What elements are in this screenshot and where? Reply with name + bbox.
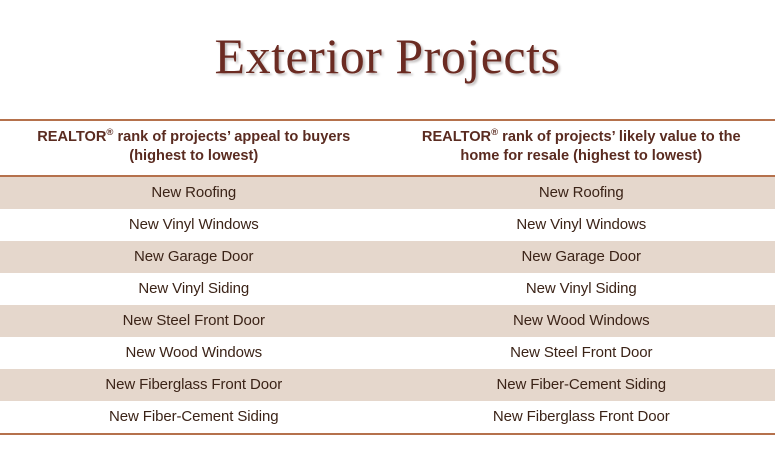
cell-appeal: New Roofing (0, 177, 388, 209)
cell-resale: New Vinyl Windows (388, 209, 775, 241)
title-area: Exterior Projects (0, 0, 775, 119)
table-row: New Fiberglass Front Door New Fiber-Ceme… (0, 369, 775, 401)
column-header-resale: REALTOR® rank of projects’ likely value … (388, 121, 775, 175)
cell-appeal: New Fiberglass Front Door (0, 369, 388, 401)
table-header-row: REALTOR® rank of projects’ appeal to buy… (0, 121, 775, 177)
table-row: New Garage Door New Garage Door (0, 241, 775, 273)
table-row: New Vinyl Windows New Vinyl Windows (0, 209, 775, 241)
cell-appeal: New Vinyl Windows (0, 209, 388, 241)
cell-appeal: New Vinyl Siding (0, 273, 388, 305)
cell-resale: New Fiber-Cement Siding (388, 369, 775, 401)
page: Exterior Projects REALTOR® rank of proje… (0, 0, 775, 457)
cell-appeal: New Fiber-Cement Siding (0, 401, 388, 433)
table-row: New Vinyl Siding New Vinyl Siding (0, 273, 775, 305)
column-header-resale-rest: rank of projects’ likely value to the ho… (460, 129, 740, 164)
table-row: New Steel Front Door New Wood Windows (0, 305, 775, 337)
cell-appeal: New Wood Windows (0, 337, 388, 369)
projects-table: REALTOR® rank of projects’ appeal to buy… (0, 119, 775, 435)
cell-resale: New Garage Door (388, 241, 775, 273)
column-header-resale-realtor: REALTOR (422, 129, 491, 145)
cell-appeal: New Garage Door (0, 241, 388, 273)
table-row: New Roofing New Roofing (0, 177, 775, 209)
cell-appeal: New Steel Front Door (0, 305, 388, 337)
cell-resale: New Fiberglass Front Door (388, 401, 775, 433)
cell-resale: New Wood Windows (388, 305, 775, 337)
column-header-appeal-realtor: REALTOR (37, 129, 106, 145)
table-row: New Fiber-Cement Siding New Fiberglass F… (0, 401, 775, 433)
cell-resale: New Steel Front Door (388, 337, 775, 369)
cell-resale: New Vinyl Siding (388, 273, 775, 305)
page-title: Exterior Projects (215, 31, 561, 89)
column-header-appeal-rest: rank of projects’ appeal to buyers (high… (113, 129, 350, 164)
column-header-appeal: REALTOR® rank of projects’ appeal to buy… (0, 121, 388, 175)
cell-resale: New Roofing (388, 177, 775, 209)
table-row: New Wood Windows New Steel Front Door (0, 337, 775, 369)
